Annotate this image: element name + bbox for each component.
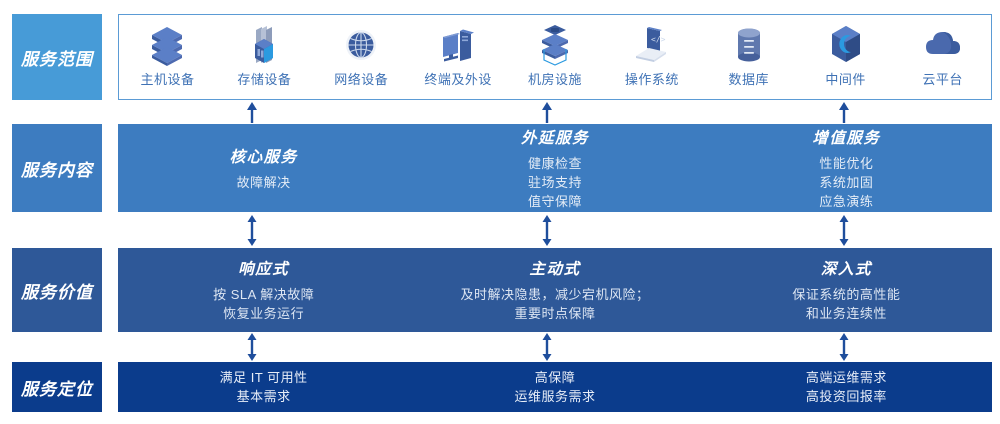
value-cell-reactive[interactable]: 响应式 按 SLA 解决故障 恢复业务运行 bbox=[118, 248, 409, 332]
row-label-service-scope: 服务范围 bbox=[12, 14, 102, 100]
content-cell-core[interactable]: 核心服务 故障解决 bbox=[118, 124, 409, 212]
row-label-service-value: 服务价值 bbox=[12, 248, 102, 332]
row-label-service-position: 服务定位 bbox=[12, 362, 102, 412]
cell-line: 保证系统的高性能 bbox=[792, 285, 900, 304]
connector-value-to-position-2 bbox=[539, 333, 555, 361]
service-content-panel: 核心服务 故障解决 外延服务 健康检查 驻场支持 值守保障 增值服务 性能优化 … bbox=[118, 124, 992, 212]
connector-scope-to-content-2 bbox=[539, 101, 555, 123]
scope-item-terminal[interactable]: 终端及外设 bbox=[410, 15, 507, 99]
cell-line: 应急演练 bbox=[819, 192, 873, 211]
globe-network-icon bbox=[339, 24, 383, 66]
cell-line: 高投资回报率 bbox=[806, 387, 887, 406]
scope-item-cloud[interactable]: 云平台 bbox=[894, 15, 991, 99]
cell-line: 重要时点保障 bbox=[514, 304, 595, 323]
cell-line: 运维服务需求 bbox=[514, 387, 595, 406]
cell-line: 故障解决 bbox=[237, 173, 291, 192]
service-framework-diagram: 服务范围 服务内容 服务价值 服务定位 主机设备 bbox=[0, 0, 1000, 424]
laptop-code-icon: </> bbox=[630, 24, 674, 66]
cell-line: 系统加固 bbox=[819, 173, 873, 192]
cell-line: 性能优化 bbox=[819, 154, 873, 173]
connector-content-to-value-2 bbox=[539, 215, 555, 246]
scope-item-storage[interactable]: 存储设备 bbox=[216, 15, 313, 99]
row-label-text: 服务内容 bbox=[21, 156, 93, 181]
position-cell-highend[interactable]: 高端运维需求 高投资回报率 bbox=[701, 362, 992, 412]
scope-item-label: 机房设施 bbox=[528, 69, 582, 88]
scope-item-datacenter[interactable]: 机房设施 bbox=[507, 15, 604, 99]
scope-item-label: 网络设备 bbox=[334, 69, 388, 88]
scope-item-network[interactable]: 网络设备 bbox=[313, 15, 410, 99]
service-scope-panel: 主机设备 存储设备 bbox=[118, 14, 992, 100]
value-cell-proactive[interactable]: 主动式 及时解决隐患，减少宕机风险； 重要时点保障 bbox=[409, 248, 700, 332]
scope-item-label: 数据库 bbox=[729, 69, 770, 88]
connector-value-to-position-1 bbox=[244, 333, 260, 361]
scope-item-label: 操作系统 bbox=[625, 69, 679, 88]
connector-content-to-value-3 bbox=[836, 215, 852, 246]
connector-content-to-value-1 bbox=[244, 215, 260, 246]
scope-item-label: 中间件 bbox=[825, 69, 866, 88]
position-cell-basic[interactable]: 满足 IT 可用性 基本需求 bbox=[118, 362, 409, 412]
cell-line: 及时解决隐患，减少宕机风险； bbox=[460, 285, 649, 304]
content-cell-extended[interactable]: 外延服务 健康检查 驻场支持 值守保障 bbox=[409, 124, 700, 212]
cell-line: 值守保障 bbox=[528, 192, 582, 211]
cloud-icon bbox=[921, 24, 965, 66]
scope-item-label: 存储设备 bbox=[237, 69, 291, 88]
scope-item-label: 终端及外设 bbox=[424, 69, 492, 88]
scope-item-database[interactable]: 数据库 bbox=[700, 15, 797, 99]
cell-line: 健康检查 bbox=[528, 154, 582, 173]
service-value-panel: 响应式 按 SLA 解决故障 恢复业务运行 主动式 及时解决隐患，减少宕机风险；… bbox=[118, 248, 992, 332]
cell-line: 按 SLA 解决故障 bbox=[213, 285, 314, 304]
row-label-text: 服务定位 bbox=[21, 375, 93, 400]
database-cylinder-icon bbox=[727, 24, 771, 66]
cube-middleware-icon bbox=[824, 24, 868, 66]
connector-scope-to-content-1 bbox=[244, 101, 260, 123]
service-position-panel: 满足 IT 可用性 基本需求 高保障 运维服务需求 高端运维需求 高投资回报率 bbox=[118, 362, 992, 412]
content-cell-valueadd[interactable]: 增值服务 性能优化 系统加固 应急演练 bbox=[701, 124, 992, 212]
storage-array-icon bbox=[242, 24, 286, 66]
row-label-text: 服务价值 bbox=[21, 278, 93, 303]
row-label-text: 服务范围 bbox=[21, 45, 93, 70]
data-center-icon bbox=[533, 24, 577, 66]
server-stack-icon bbox=[145, 24, 189, 66]
cell-line: 满足 IT 可用性 bbox=[220, 368, 308, 387]
scope-item-label: 主机设备 bbox=[140, 69, 194, 88]
scope-item-middleware[interactable]: 中间件 bbox=[797, 15, 894, 99]
cell-line: 高保障 bbox=[535, 368, 576, 387]
scope-item-os[interactable]: </> 操作系统 bbox=[603, 15, 700, 99]
scope-item-label: 云平台 bbox=[922, 69, 963, 88]
row-label-service-content: 服务内容 bbox=[12, 124, 102, 212]
scope-item-host[interactable]: 主机设备 bbox=[119, 15, 216, 99]
connector-scope-to-content-3 bbox=[836, 101, 852, 123]
desktop-pc-icon bbox=[436, 24, 480, 66]
value-cell-indepth[interactable]: 深入式 保证系统的高性能 和业务连续性 bbox=[701, 248, 992, 332]
svg-text:</>: </> bbox=[651, 35, 666, 44]
cell-line: 高端运维需求 bbox=[806, 368, 887, 387]
cell-line: 恢复业务运行 bbox=[223, 304, 304, 323]
position-cell-assurance[interactable]: 高保障 运维服务需求 bbox=[409, 362, 700, 412]
cell-title: 主动式 bbox=[529, 257, 580, 279]
cell-title: 增值服务 bbox=[812, 126, 880, 148]
connector-value-to-position-3 bbox=[836, 333, 852, 361]
cell-title: 响应式 bbox=[238, 257, 289, 279]
cell-line: 和业务连续性 bbox=[806, 304, 887, 323]
cell-title: 核心服务 bbox=[230, 145, 298, 167]
cell-line: 驻场支持 bbox=[528, 173, 582, 192]
cell-title: 外延服务 bbox=[521, 126, 589, 148]
cell-line: 基本需求 bbox=[237, 387, 291, 406]
cell-title: 深入式 bbox=[821, 257, 872, 279]
